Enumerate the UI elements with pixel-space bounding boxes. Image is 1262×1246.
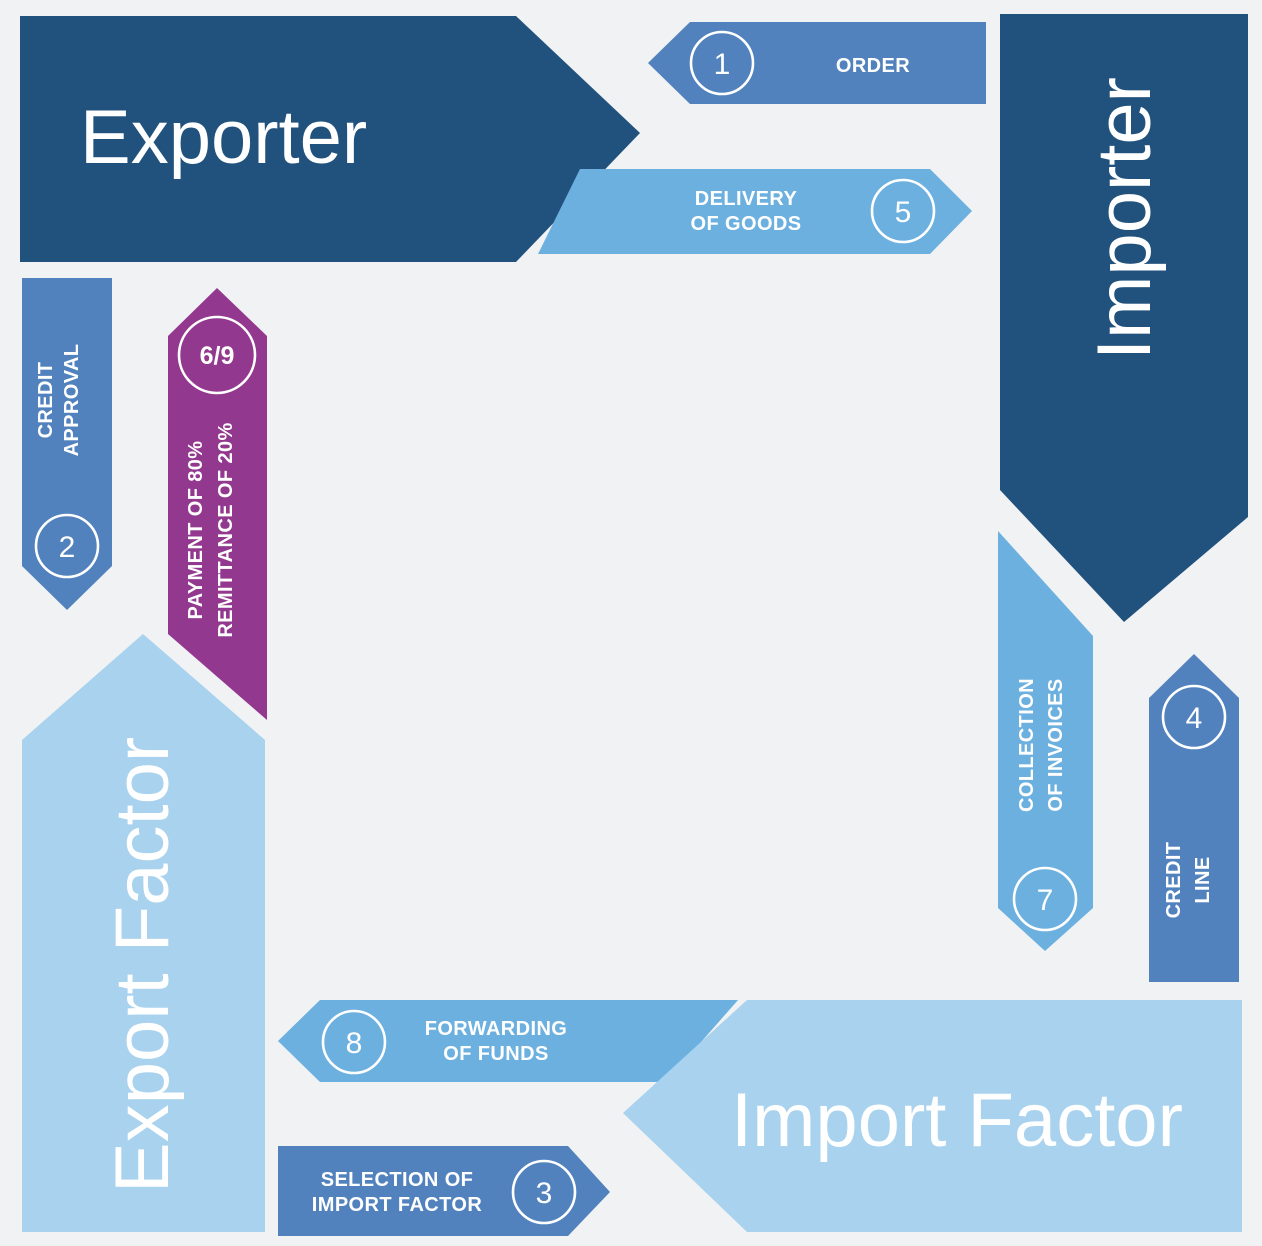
step-7-label-line-2: OF INVOICES [1045,678,1067,811]
actor-exporter[interactable]: Exporter [20,16,640,262]
step-4-label-line-2: LINE [1192,856,1214,903]
step-6-9-label-line-2: REMITTANCE OF 20% [215,422,237,637]
actor-import-factor[interactable]: Import Factor [623,1000,1242,1232]
step-8-label-line-1: FORWARDING [425,1018,568,1040]
step-5-label-line-2: OF GOODS [691,213,802,235]
step-6-9-number: 6/9 [200,342,235,370]
importer-label: Importer [1082,77,1167,360]
step-3-label-line-1: SELECTION OF [321,1169,474,1191]
step-2-number: 2 [59,531,76,564]
step-5-number: 5 [895,196,912,229]
step-1-order[interactable]: 1 ORDER [648,22,986,104]
step-4-credit-line[interactable]: 4 CREDIT LINE [1149,654,1239,982]
process-flow-diagram: Exporter 1 ORDER DELIVERY OF GOODS 5 Imp… [0,0,1262,1246]
actor-export-factor[interactable]: Export Factor [22,634,265,1232]
step-8-number: 8 [346,1027,363,1060]
step-2-label-line-1: CREDIT [35,362,57,439]
step-3-number: 3 [536,1177,553,1210]
step-4-label-line-1: CREDIT [1163,842,1185,919]
step-2-label-line-2: APPROVAL [61,344,83,457]
step-3-label-line-2: IMPORT FACTOR [312,1194,483,1216]
step-3-selection-of-import-factor[interactable]: SELECTION OF IMPORT FACTOR 3 [278,1146,610,1236]
step-5-delivery-of-goods[interactable]: DELIVERY OF GOODS 5 [538,169,972,254]
step-3-shape [278,1146,610,1236]
step-8-label-line-2: OF FUNDS [443,1043,548,1065]
actor-importer[interactable]: Importer [1000,14,1248,622]
step-6-9-label-line-1: PAYMENT OF 80% [185,441,207,620]
step-1-label-line-1: ORDER [836,55,910,77]
step-4-number: 4 [1186,702,1203,735]
exporter-label: Exporter [80,95,367,180]
step-1-shape [648,22,986,104]
step-7-label-line-1: COLLECTION [1016,678,1038,812]
diagram-canvas: Exporter 1 ORDER DELIVERY OF GOODS 5 Imp… [0,0,1262,1246]
step-5-label-line-1: DELIVERY [695,188,798,210]
step-2-credit-approval[interactable]: CREDIT APPROVAL 2 [22,278,112,610]
import-factor-label: Import Factor [731,1078,1183,1163]
step-8-forwarding-of-funds[interactable]: 8 FORWARDING OF FUNDS [278,1000,738,1082]
export-factor-label: Export Factor [100,737,185,1193]
step-1-number: 1 [714,48,731,81]
step-7-collection-of-invoices[interactable]: COLLECTION OF INVOICES 7 [998,531,1093,951]
step-7-number: 7 [1037,884,1054,917]
step-6-9-payment-remittance[interactable]: 6/9 PAYMENT OF 80% REMITTANCE OF 20% [168,288,267,720]
